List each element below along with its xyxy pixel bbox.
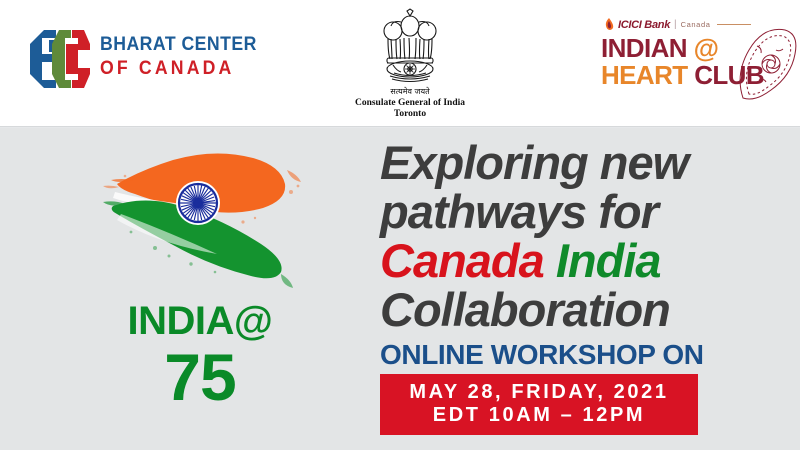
consulate-general-of-india-logo: सत्यमेव जयते Consulate General of India … — [330, 8, 490, 123]
ashoka-lion-capital-icon — [374, 8, 446, 86]
ihc-heart-word: HEART — [601, 60, 688, 90]
date-line: MAY 28, FRIDAY, 2021 — [380, 381, 698, 404]
icici-divider: | — [674, 19, 677, 30]
date-banner: MAY 28, FRIDAY, 2021 EDT 10AM – 12PM — [380, 374, 698, 435]
bcc-title-line2: OF CANADA — [100, 58, 258, 80]
title-canada-word: Canada — [380, 234, 544, 287]
paisley-ornament-icon — [733, 24, 799, 104]
consulate-name: Consulate General of India — [330, 98, 490, 108]
bharat-center-of-canada-logo: BHARAT CENTER OF CANADA — [22, 22, 262, 96]
title-line-2: pathways for — [380, 187, 790, 236]
event-title: Exploring new pathways for Canada India … — [380, 138, 790, 334]
bcc-logo-text: BHARAT CENTER OF CANADA — [100, 34, 270, 80]
ihc-at-symbol: @ — [694, 33, 719, 63]
time-line: EDT 10AM – 12PM — [380, 404, 698, 427]
consulate-city: Toronto — [330, 109, 490, 119]
icici-bank-name: ICICI Bank — [618, 19, 670, 31]
title-india-word: India — [556, 234, 661, 287]
bcc-monogram-icon — [22, 24, 94, 94]
icici-region: Canada — [681, 20, 711, 29]
india-at-text: INDIA@ — [60, 300, 340, 342]
bcc-title-line1: BHARAT CENTER — [100, 34, 258, 56]
event-poster: BHARAT CENTER OF CANADA — [0, 0, 800, 450]
poster-header: BHARAT CENTER OF CANADA — [0, 0, 800, 127]
icici-bank-canada-lockup: ICICI Bank | Canada — [603, 18, 751, 31]
ashoka-chakra-icon — [176, 181, 220, 225]
workshop-label: ONLINE WORKSHOP ON — [380, 340, 790, 370]
title-line-3: Canada India — [380, 236, 790, 285]
title-line-1: Exploring new — [380, 138, 790, 187]
event-details-column: Exploring new pathways for Canada India … — [380, 138, 790, 435]
title-line-4: Collaboration — [380, 285, 790, 334]
indian-at-heart-club-logo: ICICI Bank | Canada INDIAN @ HEART CLUB — [595, 18, 785, 104]
satyameva-jayate-motto: सत्यमेव जयते — [330, 87, 490, 96]
india-at-75-label: INDIA@ 75 — [60, 300, 340, 410]
ihc-indian-word: INDIAN — [601, 33, 687, 63]
seventy-five-text: 75 — [60, 344, 340, 410]
icici-flame-icon — [603, 18, 615, 31]
